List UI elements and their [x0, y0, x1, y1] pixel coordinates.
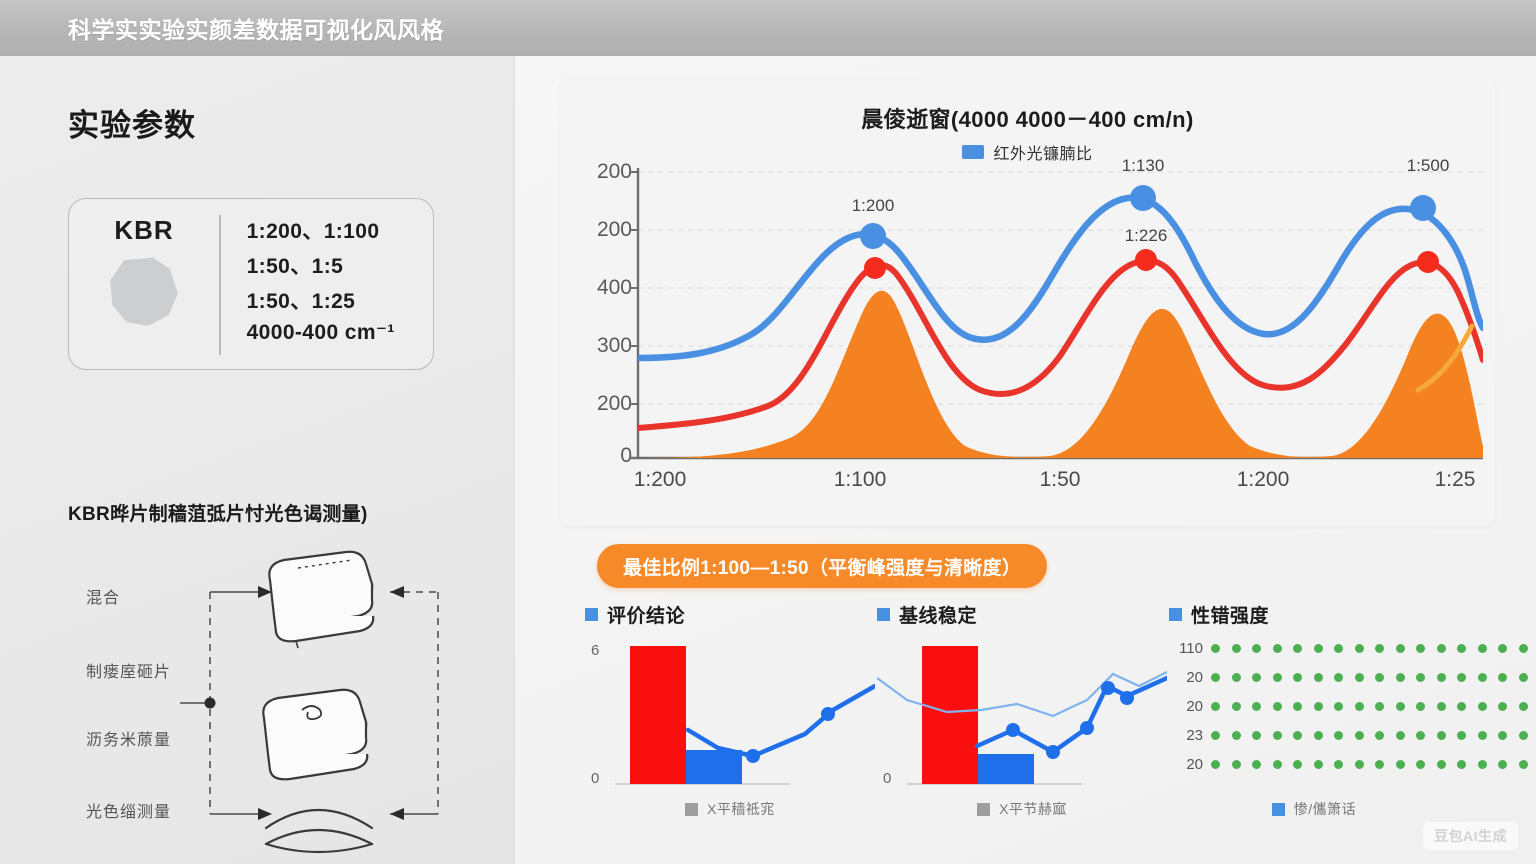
- legend-label: 红外光镰腩比: [993, 140, 1092, 164]
- footer-label: X平节赫寙: [999, 799, 1067, 819]
- matrix-dot: [1478, 731, 1487, 740]
- matrix-dot: [1314, 644, 1323, 653]
- x-tick: 1:50: [1040, 468, 1081, 492]
- matrix-dot: [1355, 673, 1364, 682]
- matrix-dot: [1519, 731, 1528, 740]
- matrix-dot: [1457, 673, 1466, 682]
- mini-panel-evaluation: 评价结论 6 0: [585, 601, 875, 851]
- param-values: 1:200、1:100 1:50、1:5 1:50、1:25 4000-400 …: [221, 199, 433, 369]
- dot-row-label: 23: [1169, 727, 1203, 744]
- matrix-dot: [1334, 731, 1343, 740]
- bullet-icon: [1169, 608, 1182, 621]
- matrix-dot: [1252, 731, 1261, 740]
- matrix-dot: [1396, 644, 1405, 653]
- matrix-dot: [1519, 760, 1528, 769]
- mini-panel-header: 评价结论: [585, 601, 875, 628]
- dot-row-label: 20: [1169, 698, 1203, 715]
- matrix-dot: [1334, 673, 1343, 682]
- dot-row-label: 110: [1169, 640, 1203, 657]
- matrix-dot: [1293, 673, 1302, 682]
- matrix-dot: [1375, 760, 1384, 769]
- best-ratio-badge: 最佳比例1:100—1:50（平衡峰强度与清晰度）: [597, 544, 1047, 588]
- mini-panel-title: 基线稳定: [899, 601, 977, 628]
- series-orange-filled-peaks: [638, 291, 1483, 458]
- series-red-spectrum-line: [638, 261, 1483, 428]
- matrix-dot: [1252, 702, 1261, 711]
- matrix-dot: [1478, 673, 1487, 682]
- matrix-dot: [1457, 644, 1466, 653]
- param-card-identity: KBR: [69, 199, 219, 369]
- slide-body: 实验参数 KBR 1:200、1:100 1:50、1:5 1:50、1:25 …: [0, 56, 1536, 864]
- matrix-dot: [1334, 644, 1343, 653]
- plot-area: 200 200 400 300 200 0: [560, 168, 1495, 498]
- rock-chunk-icon: [108, 256, 180, 328]
- matrix-dot: [1232, 731, 1241, 740]
- red-marker-points: [864, 249, 1439, 279]
- matrix-dot: [1416, 644, 1425, 653]
- matrix-dot: [1252, 760, 1261, 769]
- watermark: 豆包AI生成: [1423, 822, 1518, 850]
- dot-row-label: 20: [1169, 756, 1203, 773]
- matrix-dot: [1314, 760, 1323, 769]
- matrix-dot: [1437, 702, 1446, 711]
- matrix-dot: [1375, 731, 1384, 740]
- matrix-dot: [1437, 644, 1446, 653]
- x-tick: 1:200: [1237, 468, 1290, 492]
- matrix-dot: [1232, 760, 1241, 769]
- matrix-dot: [1252, 644, 1261, 653]
- matrix-dot: [1437, 673, 1446, 682]
- matrix-dot: [1396, 702, 1405, 711]
- data-point-label: 1:200: [852, 196, 895, 216]
- axis-lines: [630, 168, 1483, 458]
- matrix-dot: [1457, 702, 1466, 711]
- right-pane: 晨倰逝窗(4000 4000－400 cm/n) 红外光镰腩比 200 200 …: [515, 56, 1536, 864]
- matrix-dot: [1293, 731, 1302, 740]
- lens-sample-icon: [266, 810, 372, 852]
- matrix-dot: [1211, 673, 1220, 682]
- dot-row-label: 20: [1169, 669, 1203, 686]
- matrix-dot: [1478, 760, 1487, 769]
- matrix-dot: [1375, 644, 1384, 653]
- chart-title: 晨倰逝窗(4000 4000－400 cm/n): [560, 102, 1495, 134]
- matrix-dot: [1314, 731, 1323, 740]
- data-point-label: 1:226: [1125, 226, 1168, 246]
- param-line: 1:50、1:25: [247, 285, 433, 315]
- header-title: 科学实实验实颜差数据可视化风风格: [68, 11, 444, 45]
- mini-panel-title: 性错强度: [1191, 601, 1269, 628]
- dot-matrix-row: [1211, 760, 1536, 769]
- matrix-dot: [1232, 702, 1241, 711]
- matrix-dot: [1375, 702, 1384, 711]
- pellet-die-icon: [263, 690, 367, 780]
- bar: [922, 646, 978, 784]
- matrix-dot: [1457, 760, 1466, 769]
- footer-label: 惨/儶箫话: [1294, 799, 1356, 819]
- mini-chart-footer: X平穑祗宨: [585, 799, 875, 819]
- matrix-dot: [1334, 702, 1343, 711]
- matrix-dot: [1211, 760, 1220, 769]
- matrix-dot: [1416, 673, 1425, 682]
- mini-chart-2-graphics: [877, 638, 1167, 803]
- matrix-dot: [1416, 731, 1425, 740]
- mini-panel-baseline: 基线稳定 0: [877, 601, 1167, 851]
- flow-diagram-graphics: [60, 548, 480, 858]
- legend-swatch-icon: [962, 145, 984, 159]
- x-tick: 1:25: [1435, 468, 1476, 492]
- matrix-dot: [1416, 702, 1425, 711]
- param-card: KBR 1:200、1:100 1:50、1:5 1:50、1:25 4000-…: [68, 198, 434, 370]
- matrix-dot: [1314, 673, 1323, 682]
- dot-matrix-row: [1211, 731, 1536, 740]
- bar: [978, 754, 1034, 784]
- matrix-dot: [1498, 731, 1507, 740]
- trend-line: [688, 686, 875, 756]
- param-line: 4000-400 cm⁻¹: [247, 320, 433, 345]
- matrix-dot: [1211, 702, 1220, 711]
- page-title: 实验参数: [68, 100, 196, 145]
- data-point-label: 1:500: [1407, 156, 1450, 176]
- matrix-dot: [1232, 644, 1241, 653]
- matrix-dot: [1355, 644, 1364, 653]
- matrix-dot: [1498, 760, 1507, 769]
- matrix-dot: [1314, 702, 1323, 711]
- matrix-dot: [1232, 673, 1241, 682]
- matrix-dot: [1211, 644, 1220, 653]
- mini-chart-body: 0: [877, 638, 1167, 803]
- bullet-icon: [585, 608, 598, 621]
- x-tick: 1:200: [634, 468, 687, 492]
- matrix-dot: [1478, 702, 1487, 711]
- matrix-dot: [1498, 702, 1507, 711]
- matrix-dot: [1437, 731, 1446, 740]
- matrix-dot: [1478, 644, 1487, 653]
- mini-panel-title: 评价结论: [607, 601, 685, 628]
- spectrum-chart-card: 晨倰逝窗(4000 4000－400 cm/n) 红外光镰腩比 200 200 …: [560, 76, 1495, 526]
- mini-charts-row: 评价结论 6 0: [585, 601, 1535, 851]
- matrix-dot: [1396, 731, 1405, 740]
- mini-panel-header: 基线稳定: [877, 601, 1167, 628]
- bar: [630, 646, 686, 784]
- flow-diagram-title: KBR晔片制穑菹弤片忖光色谒测量): [68, 499, 368, 526]
- matrix-dot: [1293, 702, 1302, 711]
- left-pane: 实验参数 KBR 1:200、1:100 1:50、1:5 1:50、1:25 …: [0, 56, 513, 864]
- mini-chart-body: 6 0: [585, 638, 875, 803]
- flow-diagram: 混合 制瘘庢砸片 沥务米蒝量 光色缁测量: [60, 548, 480, 858]
- matrix-dot: [1293, 760, 1302, 769]
- tablet-press-icon: [269, 552, 373, 648]
- matrix-dot: [1273, 702, 1282, 711]
- slide-root: 科学实实验实颜差数据可视化风风格 实验参数 KBR 1:200、1:100 1:…: [0, 0, 1536, 864]
- matrix-dot: [1273, 673, 1282, 682]
- matrix-dot: [1416, 760, 1425, 769]
- matrix-dot: [1273, 760, 1282, 769]
- footer-label: X平穑祗宨: [707, 799, 775, 819]
- mini-chart-footer: 惨/儶箫话: [1169, 799, 1459, 819]
- param-line: 1:200、1:100: [247, 215, 433, 245]
- x-tick: 1:100: [834, 468, 887, 492]
- matrix-dot: [1519, 702, 1528, 711]
- grid-lines: [638, 172, 1483, 404]
- matrix-dot: [1355, 760, 1364, 769]
- matrix-dot: [1457, 731, 1466, 740]
- footer-swatch-icon: [977, 803, 990, 816]
- matrix-dot: [1519, 673, 1528, 682]
- matrix-dot: [1396, 760, 1405, 769]
- param-label: KBR: [114, 215, 173, 246]
- matrix-dot: [1396, 673, 1405, 682]
- matrix-dot: [1355, 702, 1364, 711]
- bullet-icon: [877, 608, 890, 621]
- matrix-dot: [1273, 644, 1282, 653]
- param-line: 1:50、1:5: [247, 250, 433, 280]
- trend-line: [977, 678, 1167, 752]
- chart-legend: 红外光镰腩比: [560, 140, 1495, 164]
- bar: [686, 750, 742, 784]
- matrix-dot: [1211, 731, 1220, 740]
- spectrum-plot: [560, 168, 1495, 468]
- dot-matrix-row: [1211, 644, 1536, 653]
- footer-swatch-icon: [1272, 803, 1285, 816]
- matrix-dot: [1437, 760, 1446, 769]
- footer-swatch-icon: [685, 803, 698, 816]
- mini-panel-header: 性错强度: [1169, 601, 1459, 628]
- matrix-dot: [1498, 644, 1507, 653]
- flow-node-dot: [205, 698, 216, 709]
- mini-chart-1-graphics: [585, 638, 875, 803]
- matrix-dot: [1375, 673, 1384, 682]
- matrix-dot: [1355, 731, 1364, 740]
- matrix-dot: [1498, 673, 1507, 682]
- matrix-dot: [1252, 673, 1261, 682]
- dot-matrix: 11020202320: [1169, 638, 1459, 803]
- matrix-dot: [1519, 644, 1528, 653]
- matrix-dot: [1334, 760, 1343, 769]
- dot-matrix-row: [1211, 702, 1536, 711]
- mini-panel-intensity: 性错强度 11020202320 惨/儶箫话: [1169, 601, 1459, 851]
- data-point-label: 1:130: [1122, 156, 1165, 176]
- dot-matrix-row: [1211, 673, 1536, 682]
- mini-chart-footer: X平节赫寙: [877, 799, 1167, 819]
- matrix-dot: [1293, 644, 1302, 653]
- matrix-dot: [1273, 731, 1282, 740]
- header-bar: 科学实实验实颜差数据可视化风风格: [0, 0, 1536, 56]
